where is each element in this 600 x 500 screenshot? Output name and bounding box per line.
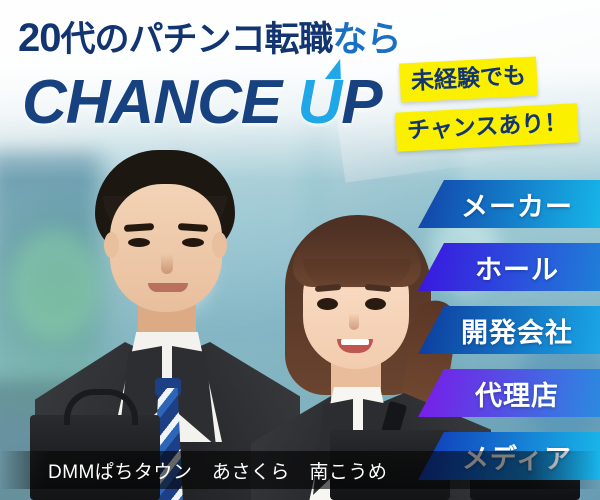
caption-bar: DMMぱちタウン あさくら 南こうめ: [0, 451, 600, 489]
category-button-maker[interactable]: メーカー: [418, 180, 600, 228]
category-button-agency[interactable]: 代理店: [418, 369, 600, 417]
caption-text: DMMぱちタウン あさくら 南こうめ: [0, 457, 387, 484]
advertisement-banner[interactable]: 20代のパチンコ転職なら CHANCE UP 未経験でも チャンスあり！ メーカ…: [0, 0, 600, 500]
category-button-hall[interactable]: ホール: [418, 243, 600, 291]
category-label-developer: 開発会社: [445, 311, 573, 350]
category-label-maker: メーカー: [445, 185, 573, 224]
category-label-hall: ホール: [459, 248, 559, 287]
category-label-agency: 代理店: [459, 374, 559, 413]
category-button-developer[interactable]: 開発会社: [418, 306, 600, 354]
category-list: メーカー ホール 開発会社 代理店 メディア: [0, 0, 600, 500]
